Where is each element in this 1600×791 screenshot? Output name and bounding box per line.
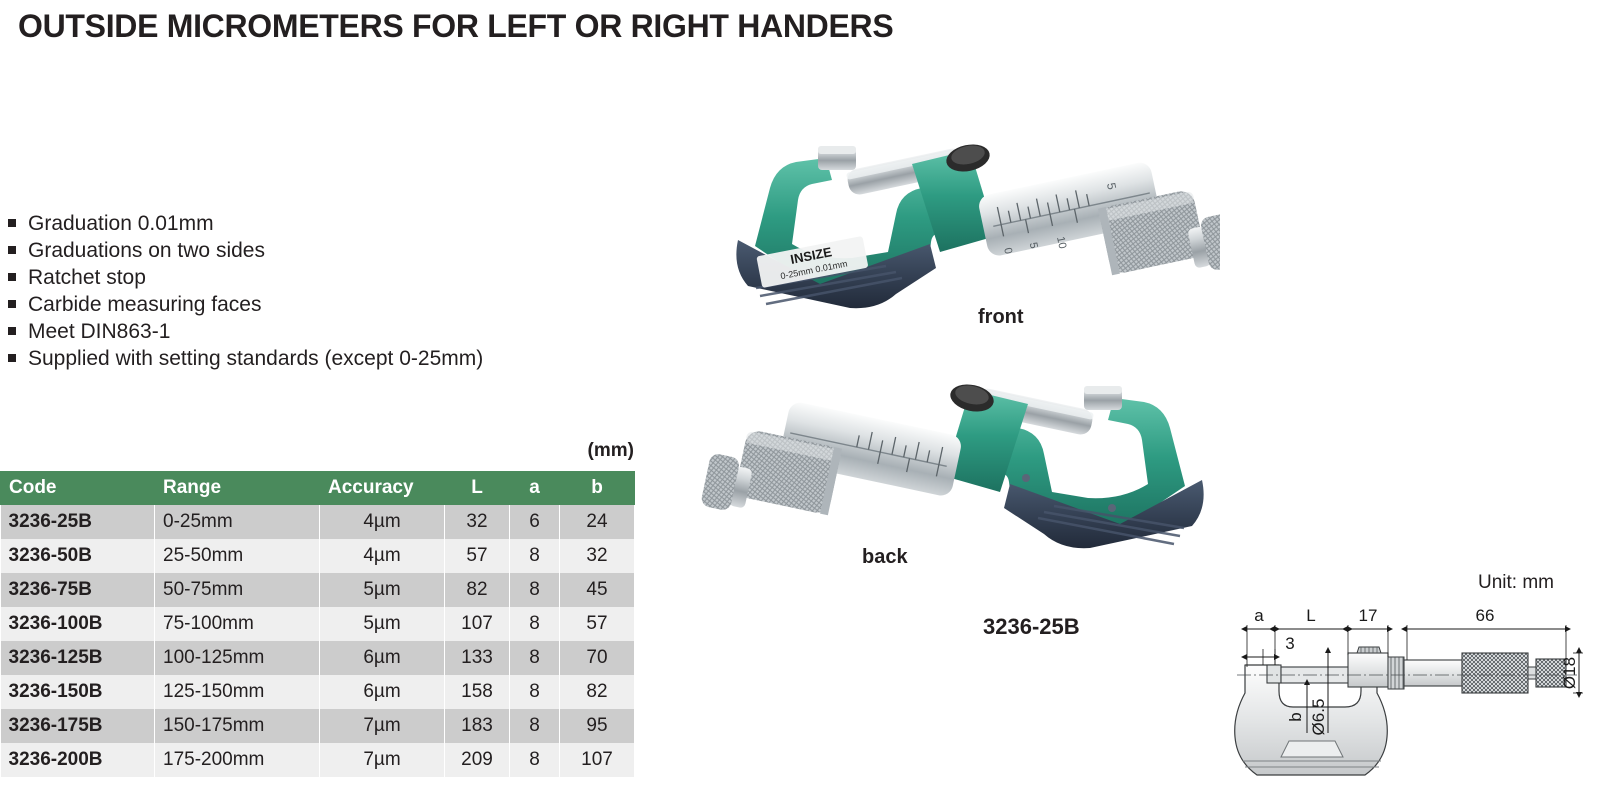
cell-accuracy: 6µm: [320, 675, 445, 709]
list-item: Graduations on two sides: [8, 237, 628, 264]
back-view-caption: back: [862, 546, 908, 569]
cell-a: 8: [510, 573, 560, 607]
cell-a: 8: [510, 743, 560, 777]
table-header-row: Code Range Accuracy L a b: [1, 471, 635, 505]
table-row: 3236-25B0-25mm4µm32624: [1, 505, 635, 539]
list-item: Carbide measuring faces: [8, 291, 628, 318]
cell-l: 107: [445, 607, 510, 641]
dim-17-label: 17: [1359, 606, 1378, 625]
cell-l: 209: [445, 743, 510, 777]
dim-d65-label: Ø6.5: [1309, 699, 1328, 736]
micrometer-back-photo: [700, 358, 1240, 598]
column-header-accuracy: Accuracy: [320, 471, 445, 505]
list-item: Graduation 0.01mm: [8, 210, 628, 237]
cell-code: 3236-25B: [1, 505, 155, 539]
feature-label: Meet DIN863-1: [28, 318, 170, 345]
cell-l: 82: [445, 573, 510, 607]
cell-accuracy: 4µm: [320, 505, 445, 539]
square-bullet-icon: [8, 354, 16, 362]
specification-table: Code Range Accuracy L a b 3236-25B0-25mm…: [0, 471, 635, 777]
cell-b: 45: [560, 573, 635, 607]
feature-label: Carbide measuring faces: [28, 291, 261, 318]
cell-b: 32: [560, 539, 635, 573]
feature-label: Supplied with setting standards (except …: [28, 345, 483, 372]
svg-text:5: 5: [1027, 241, 1040, 249]
page-title: OUTSIDE MICROMETERS FOR LEFT OR RIGHT HA…: [18, 8, 893, 45]
feature-label: Ratchet stop: [28, 264, 146, 291]
column-header-l: L: [445, 471, 510, 505]
svg-text:10: 10: [1054, 235, 1068, 249]
unit-label: Unit: mm: [1478, 572, 1554, 594]
feature-label: Graduations on two sides: [28, 237, 265, 264]
cell-l: 32: [445, 505, 510, 539]
cell-b: 82: [560, 675, 635, 709]
cell-range: 150-175mm: [155, 709, 320, 743]
dim-a-label: a: [1254, 606, 1264, 625]
cell-accuracy: 7µm: [320, 709, 445, 743]
cell-code: 3236-200B: [1, 743, 155, 777]
list-item: Supplied with setting standards (except …: [8, 345, 628, 372]
table-row: 3236-50B25-50mm4µm57832: [1, 539, 635, 573]
cell-code: 3236-150B: [1, 675, 155, 709]
square-bullet-icon: [8, 219, 16, 227]
cell-b: 107: [560, 743, 635, 777]
list-item: Ratchet stop: [8, 264, 628, 291]
table-unit-note: (mm): [0, 440, 634, 462]
cell-accuracy: 5µm: [320, 607, 445, 641]
list-item: Meet DIN863-1: [8, 318, 628, 345]
cell-code: 3236-100B: [1, 607, 155, 641]
dim-d18-label: Ø18: [1560, 657, 1579, 689]
cell-a: 8: [510, 709, 560, 743]
dim-3-label: 3: [1285, 634, 1294, 653]
column-header-range: Range: [155, 471, 320, 505]
dim-b-label: b: [1286, 712, 1305, 721]
cell-b: 24: [560, 505, 635, 539]
cell-a: 8: [510, 641, 560, 675]
cell-range: 175-200mm: [155, 743, 320, 777]
cell-l: 57: [445, 539, 510, 573]
cell-range: 75-100mm: [155, 607, 320, 641]
cell-accuracy: 6µm: [320, 641, 445, 675]
cell-b: 95: [560, 709, 635, 743]
table-row: 3236-125B100-125mm6µm133870: [1, 641, 635, 675]
cell-l: 133: [445, 641, 510, 675]
cell-code: 3236-125B: [1, 641, 155, 675]
cell-code: 3236-75B: [1, 573, 155, 607]
square-bullet-icon: [8, 273, 16, 281]
model-code-caption: 3236-25B: [983, 614, 1080, 640]
cell-l: 158: [445, 675, 510, 709]
cell-a: 8: [510, 539, 560, 573]
cell-a: 6: [510, 505, 560, 539]
cell-a: 8: [510, 675, 560, 709]
dim-66-label: 66: [1476, 606, 1495, 625]
micrometer-front-photo: INSIZE 0-25mm 0.01mm 0 5 10 5 0: [700, 118, 1220, 318]
square-bullet-icon: [8, 300, 16, 308]
table-row: 3236-150B125-150mm6µm158882: [1, 675, 635, 709]
cell-range: 50-75mm: [155, 573, 320, 607]
cell-range: 125-150mm: [155, 675, 320, 709]
cell-l: 183: [445, 709, 510, 743]
cell-range: 25-50mm: [155, 539, 320, 573]
cell-a: 8: [510, 607, 560, 641]
cell-range: 100-125mm: [155, 641, 320, 675]
dim-L-label: L: [1306, 606, 1315, 625]
cell-accuracy: 7µm: [320, 743, 445, 777]
cell-code: 3236-50B: [1, 539, 155, 573]
column-header-a: a: [510, 471, 560, 505]
square-bullet-icon: [8, 327, 16, 335]
column-header-code: Code: [1, 471, 155, 505]
cell-code: 3236-175B: [1, 709, 155, 743]
cell-b: 70: [560, 641, 635, 675]
dimension-drawing: a L 17 66 3 b Ø6.5 Ø18: [1185, 565, 1600, 791]
table-row: 3236-100B75-100mm5µm107857: [1, 607, 635, 641]
cell-accuracy: 4µm: [320, 539, 445, 573]
cell-range: 0-25mm: [155, 505, 320, 539]
table-row: 3236-75B50-75mm5µm82845: [1, 573, 635, 607]
cell-b: 57: [560, 607, 635, 641]
front-view-caption: front: [978, 306, 1024, 329]
table-row: 3236-175B150-175mm7µm183895: [1, 709, 635, 743]
square-bullet-icon: [8, 246, 16, 254]
cell-accuracy: 5µm: [320, 573, 445, 607]
feature-label: Graduation 0.01mm: [28, 210, 214, 237]
column-header-b: b: [560, 471, 635, 505]
feature-list: Graduation 0.01mm Graduations on two sid…: [8, 210, 628, 372]
svg-text:0: 0: [1001, 247, 1014, 255]
table-row: 3236-200B175-200mm7µm2098107: [1, 743, 635, 777]
